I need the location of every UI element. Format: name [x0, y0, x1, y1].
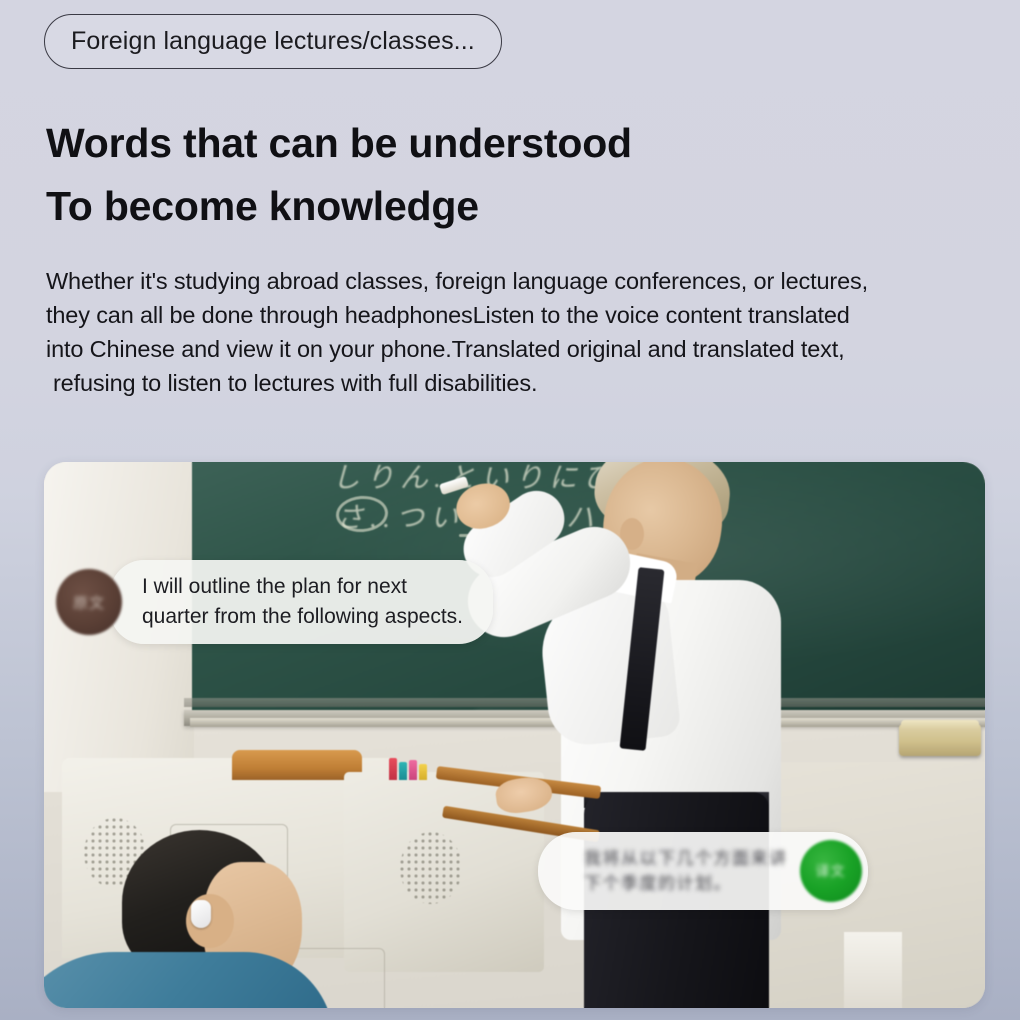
- avatar: 原文: [56, 569, 122, 635]
- headline-line-2: To become knowledge: [46, 175, 946, 238]
- chat-bubble-translation: 我将从以下几个方面来讲 下个季度的计划。 译文: [538, 832, 862, 910]
- podium-speaker-grille-right: [400, 832, 462, 904]
- earbud-icon: [191, 900, 211, 928]
- body-paragraph: Whether it's studying abroad classes, fo…: [46, 264, 986, 400]
- body-line-3: into Chinese and view it on your phone.T…: [46, 332, 986, 366]
- headline-line-1: Words that can be understood: [46, 112, 946, 175]
- body-line-4: refusing to listen to lectures with full…: [46, 366, 986, 400]
- pen-yellow: [419, 764, 427, 780]
- pen-red: [389, 758, 397, 780]
- podium-wood-top: [232, 750, 362, 780]
- headline-block: Words that can be understood To become k…: [46, 112, 946, 238]
- body-line-1: Whether it's studying abroad classes, fo…: [46, 264, 986, 298]
- chat-bubble-original-text: I will outline the plan for next quarter…: [110, 560, 493, 644]
- pen-holder: [389, 756, 431, 780]
- category-badge-label: Foreign language lectures/classes...: [71, 27, 475, 56]
- avatar-label: 译文: [816, 861, 846, 881]
- body-line-2: they can all be done through headphonesL…: [46, 298, 986, 332]
- bubble-left-line-1: I will outline the plan for next: [142, 572, 463, 602]
- avatar-label: 原文: [73, 592, 105, 613]
- category-badge[interactable]: Foreign language lectures/classes...: [44, 14, 502, 69]
- classroom-photo: しりん.といりにひ.にき さ..ついれ曲ムハ: [44, 462, 985, 1008]
- avatar: 译文: [800, 840, 862, 902]
- bubble-right-line-1: 我将从以下几个方面来讲: [584, 846, 788, 871]
- pen-pink: [409, 760, 417, 780]
- board-eraser-top: [901, 720, 979, 730]
- bubble-left-line-2: quarter from the following aspects.: [142, 602, 463, 632]
- right-light-panel: [844, 932, 902, 1008]
- pen-teal: [399, 762, 407, 780]
- chat-bubble-original: 原文 I will outline the plan for next quar…: [56, 560, 493, 644]
- bubble-right-line-2: 下个季度的计划。: [584, 871, 788, 896]
